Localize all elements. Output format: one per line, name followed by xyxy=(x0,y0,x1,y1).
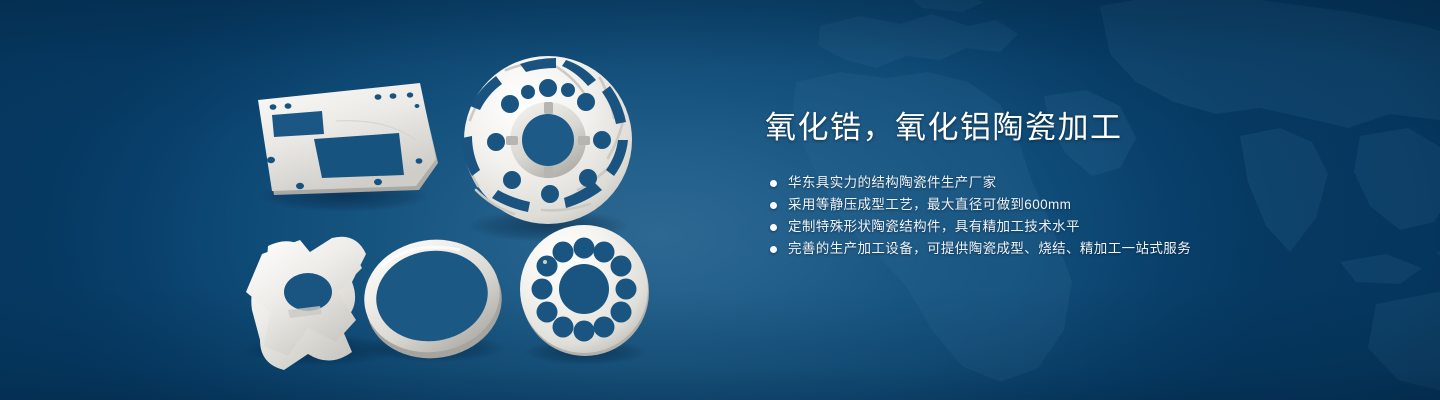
plate-hole xyxy=(270,104,277,110)
bullet-dot-icon xyxy=(770,202,777,209)
feature-list: 华东具实力的结构陶瓷件生产厂家 采用等静压成型工艺，最大直径可做到600mm 定… xyxy=(765,172,1365,260)
list-item: 华东具实力的结构陶瓷件生产厂家 xyxy=(765,172,1365,194)
plate-hole xyxy=(416,158,423,164)
ceramic-perforated-disc xyxy=(520,225,649,356)
list-item-label: 完善的生产加工设备，可提供陶瓷成型、烧结、精加工一站式服务 xyxy=(788,238,1191,260)
plate-hole xyxy=(390,93,397,99)
disc-center-bore xyxy=(559,264,609,314)
plate-cutout-large xyxy=(314,133,404,178)
plate-hole xyxy=(267,157,275,163)
headline: 氧化锆，氧化铝陶瓷加工 xyxy=(765,108,1365,148)
list-item-label: 定制特殊形状陶瓷结构件，具有精加工技术水平 xyxy=(788,216,1080,238)
ceramic-plate-with-cutouts xyxy=(258,83,438,195)
text-block: 氧化锆，氧化铝陶瓷加工 华东具实力的结构陶瓷件生产厂家 采用等静压成型工艺，最大… xyxy=(765,108,1365,260)
list-item: 采用等静压成型工艺，最大直径可做到600mm xyxy=(765,194,1365,216)
plate-hole xyxy=(296,183,304,189)
plate-cutout-small xyxy=(272,111,324,137)
cross-center-hole xyxy=(284,273,332,311)
promo-banner: 氧化锆，氧化铝陶瓷加工 华东具实力的结构陶瓷件生产厂家 采用等静压成型工艺，最大… xyxy=(0,0,1440,400)
list-item-label: 华东具实力的结构陶瓷件生产厂家 xyxy=(788,172,997,194)
list-item: 完善的生产加工设备，可提供陶瓷成型、烧结、精加工一站式服务 xyxy=(765,238,1365,260)
plate-hole xyxy=(374,179,382,185)
plate-hole xyxy=(375,94,382,100)
bullet-dot-icon xyxy=(770,246,777,253)
impeller-bore xyxy=(522,114,574,166)
plate-hole xyxy=(285,103,292,109)
bullet-dot-icon xyxy=(770,224,777,231)
list-item: 定制特殊形状陶瓷结构件，具有精加工技术水平 xyxy=(765,216,1365,238)
ceramic-impeller-disc xyxy=(462,56,632,224)
bullet-dot-icon xyxy=(770,180,777,187)
list-item-label: 采用等静压成型工艺，最大直径可做到600mm xyxy=(788,194,1071,216)
plate-hole xyxy=(407,92,413,97)
ceramic-products-image xyxy=(0,0,720,400)
plate-hole xyxy=(415,104,420,108)
ceramic-cross-shaped-part xyxy=(246,237,366,370)
